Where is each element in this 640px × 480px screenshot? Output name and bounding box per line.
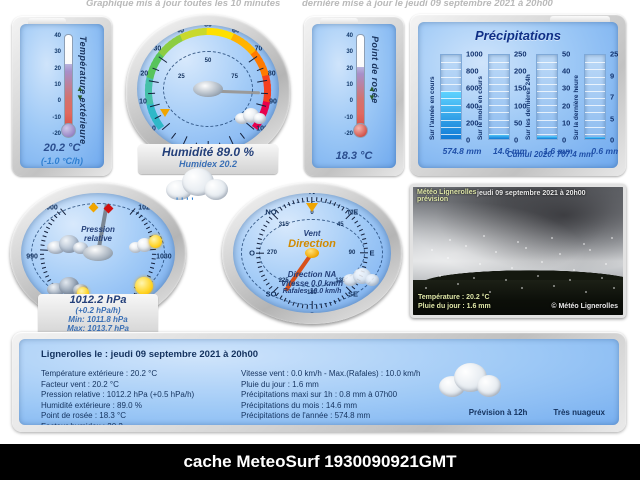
water-drop (537, 275, 539, 277)
webcam-temperature: Température : 20.2 °C (418, 294, 490, 301)
precipitation-scale: 259750 (608, 50, 618, 144)
barometer-readout: 1012.2 hPa (+0.2 hPa/h) Min: 1011.8 hPa … (35, 294, 161, 333)
needle-hub (305, 248, 319, 258)
wind-title: Vent Direction (237, 229, 387, 250)
tick-mark (261, 93, 268, 94)
water-drop (479, 263, 481, 265)
tick-mark (321, 304, 323, 308)
trend-arrows-icon: ▲▼ (76, 84, 84, 102)
tick-mark (292, 302, 294, 306)
dew-point-value: 18.3 °C (312, 150, 396, 162)
water-drop (431, 249, 433, 251)
scale-label: 10 (346, 82, 353, 88)
bar-gradation (441, 91, 461, 92)
gauge-face: 0102030405060708090100255075 (137, 25, 279, 153)
bar-gradation (441, 112, 461, 113)
summary-line: Précipitations du mois : 14.6 mm (241, 401, 420, 412)
bar-gradation (585, 62, 605, 63)
water-drop (583, 243, 585, 245)
scale-number: 30 (154, 45, 162, 52)
outdoor-temperature-rate: (-1.0 °C/h) (20, 156, 104, 166)
scale-label: -10 (344, 115, 353, 121)
bar-gradation (441, 105, 461, 106)
scale-label: -20 (52, 131, 61, 137)
water-drop (439, 275, 441, 277)
bar-gradation (489, 62, 509, 63)
tick-mark (307, 197, 308, 201)
scale-number: 1020 (138, 204, 154, 211)
water-drop (521, 287, 523, 289)
water-drop (465, 245, 467, 247)
thermometer-tube (64, 34, 73, 126)
scale-number: 50 (204, 25, 212, 29)
scale-number: 100 (256, 125, 268, 132)
precipitation-column-label: Sur les dernières 24h (525, 54, 532, 140)
thermometer-tube (356, 34, 365, 126)
humidity-readout: Humidité 89.0 % Humidex 20.2 (138, 145, 278, 169)
footer-text: cache MeteoSurf 1930090921GMT (0, 452, 640, 472)
summary-line: Facteur humidex : 20.2 (41, 422, 194, 426)
bar-gradation (537, 69, 557, 70)
summary-line: Vitesse vent : 0.0 km/h - Max.(Rafales) … (241, 369, 420, 380)
scale-label: 30 (54, 49, 61, 55)
footer-brand: MeteoSurf (236, 452, 319, 471)
barometer-title-line1: Pression (53, 225, 143, 234)
water-drop (611, 237, 613, 239)
forecast-label: Prévision à 12h (469, 408, 528, 417)
tick-mark (171, 133, 176, 139)
pressure-min: Min: 1011.8 hPa (35, 315, 161, 324)
tick-mark (307, 305, 308, 309)
compass-point-ne: NE (348, 207, 358, 216)
forecast-cloud-icon (439, 363, 501, 397)
bar-gradation (537, 91, 557, 92)
scale-label: 5 (610, 114, 614, 123)
bar-gradation (585, 69, 605, 70)
bar-gradation (489, 77, 509, 78)
wind-readout: Direction NA Vitesse 0.0 km/h Rafales 10… (233, 270, 391, 295)
scale-label: 0 (350, 98, 353, 104)
tick-mark (311, 301, 312, 309)
bar-gradation (441, 84, 461, 85)
panel-inner: 403020100-10-20 Point de rosée ▲▼ 18.3 °… (312, 24, 396, 168)
scale-number: 90 (269, 99, 277, 106)
humidity-trend-marker (160, 109, 170, 117)
webcam-forecast-label: prévision (417, 196, 448, 203)
webcam-station-label: Météo Lignerolles (417, 189, 477, 196)
bar-gradation (585, 120, 605, 121)
bar-gradation (441, 120, 461, 121)
precipitation-column-label: Sur la dernière heure (573, 54, 580, 140)
water-drop (447, 257, 449, 259)
tick-mark (240, 133, 245, 139)
scale-number: 80 (268, 70, 276, 77)
water-drop (495, 251, 497, 253)
water-drop (505, 279, 507, 281)
needle-hub (83, 245, 113, 261)
cloud-icon (233, 107, 267, 125)
wind-label: Vent (303, 229, 320, 238)
bar-gradation (537, 77, 557, 78)
water-drop (525, 247, 527, 249)
precipitation-bar-fill (537, 136, 557, 139)
bar-gradation (489, 134, 509, 135)
webcam-date: jeudi 09 septembre 2021 à 20h00 (477, 190, 586, 197)
scale-label: 50 (514, 118, 522, 127)
scale-number: 1030 (156, 253, 172, 260)
tick-mark (292, 200, 294, 204)
bar-gradation (489, 98, 509, 99)
compass-degree-label: 315 (279, 222, 289, 228)
scale-number: 990 (26, 253, 38, 260)
precipitation-column-label: Sur l'année en cours (429, 54, 436, 140)
humidity-value: Humidité 89.0 % (138, 145, 278, 159)
bar-gradation (441, 127, 461, 128)
precipitation-bar-fill (585, 137, 605, 139)
scale-number: 0 (152, 125, 156, 132)
scale-label: 0 (466, 136, 470, 145)
water-drop (573, 269, 575, 271)
compass-degree-label: 270 (267, 250, 277, 256)
compass-point-s: S (309, 311, 314, 314)
bar-gradation (489, 91, 509, 92)
water-drop (601, 277, 603, 279)
scale-label: 30 (346, 49, 353, 55)
weather-dashboard: Graphique mis à jour toutes les 10 minut… (0, 0, 640, 480)
needle-hub (193, 81, 223, 97)
scale-label: 40 (346, 33, 353, 39)
scale-label: 20 (346, 66, 353, 72)
bar-gradation (441, 134, 461, 135)
precipitation-bar (536, 54, 558, 140)
summary-left-column: Température extérieure : 20.2 °CFacteur … (41, 369, 194, 425)
bar-gradation (441, 77, 461, 78)
panel-inner: Précipitations 10008006004002000Sur l'an… (418, 22, 618, 168)
bar-gradation (489, 69, 509, 70)
precipitation-panel: Précipitations 10008006004002000Sur l'an… (410, 14, 626, 176)
scale-number: 10 (139, 99, 147, 106)
scale-label: 7 (610, 93, 614, 102)
water-drop (517, 241, 519, 243)
trend-arrows-icon: ▲▼ (368, 84, 376, 102)
summary-line: Pression relative : 1012.2 hPa (+0.5 hPa… (41, 390, 194, 401)
scale-label: 40 (562, 67, 570, 76)
pressure-rate: (+0.2 hPa/h) (35, 306, 161, 315)
sun-icon (149, 235, 162, 248)
tick-mark (360, 252, 368, 253)
summary-line: Précipitations maxi sur 1h : 0.8 mm à 07… (241, 390, 420, 401)
tick-mark (302, 304, 304, 308)
bar-gradation (585, 127, 605, 128)
summary-line: Température extérieure : 20.2 °C (41, 369, 194, 380)
water-drop (489, 291, 491, 293)
wind-title-row: Vent (237, 229, 387, 238)
footer-code: 1930090921GMT (320, 452, 457, 471)
dew-point-panel: 403020100-10-20 Point de rosée ▲▼ 18.3 °… (304, 16, 404, 176)
bar-gradation (585, 134, 605, 135)
water-drop (613, 287, 615, 289)
tick-mark (297, 303, 299, 307)
water-drop (605, 263, 607, 265)
compass-point-no: NO (265, 207, 276, 216)
scale-label: 0 (514, 136, 518, 145)
water-drop (569, 279, 571, 281)
precipitation-bar-fill (489, 134, 509, 139)
precipitation-bar (488, 54, 510, 140)
bar-gradation (441, 69, 461, 70)
forecast-row: Prévision à 12h Très nuageux (469, 408, 605, 417)
thermometer-bulb (353, 123, 368, 138)
scale-label: 9 (610, 71, 614, 80)
scale-label: 50 (562, 50, 570, 59)
scale-number: 1000 (42, 204, 58, 211)
scale-label: 0 (58, 98, 61, 104)
bar-gradation (441, 98, 461, 99)
water-drop (483, 235, 485, 237)
bar-gradation (537, 120, 557, 121)
north-marker-icon (306, 203, 318, 212)
water-drop (559, 253, 561, 255)
scale-number: 60 (232, 28, 240, 35)
scale-label: 10 (562, 118, 570, 127)
summary-heading: Lignerolles le : jeudi 09 septembre 2021… (41, 349, 258, 360)
tick-mark (40, 254, 44, 255)
water-drop (551, 237, 553, 239)
wind-speed-value: Vitesse 0.0 km/h (233, 279, 391, 288)
precipitation-bar (440, 54, 462, 140)
summary-line: Point de rosée : 18.3 °C (41, 411, 194, 422)
bar-gradation (537, 62, 557, 63)
wind-direction-value: Direction NA (233, 270, 391, 279)
webcam-image[interactable]: Météo Lignerolles prévision jeudi 09 sep… (410, 184, 626, 318)
scale-label: 0 (610, 136, 614, 145)
water-drop (541, 261, 543, 263)
bar-gradation (537, 98, 557, 99)
scale-number: 20 (140, 70, 148, 77)
wind-compass-gauge: NNEESESSOONO04590135180225270315 Vent Di… (222, 182, 402, 324)
mercury-column (65, 64, 72, 125)
dew-point-scale: 403020100-10-20 (328, 32, 354, 134)
outdoor-temperature-value: 20.2 °C (20, 142, 104, 154)
scale-label: 10 (54, 82, 61, 88)
bar-gradation (441, 62, 461, 63)
bar-gradation (585, 112, 605, 113)
wind-gust-value: Rafales 10.0 km/h (233, 288, 391, 295)
bar-gradation (585, 98, 605, 99)
tick-mark (302, 198, 304, 202)
bar-gradation (489, 112, 509, 113)
bar-gradation (537, 134, 557, 135)
bar-gradation (585, 84, 605, 85)
bar-gradation (489, 120, 509, 121)
bar-gradation (537, 105, 557, 106)
scale-label: 20 (54, 66, 61, 72)
footer-prefix: cache (183, 452, 236, 471)
scale-label: -10 (52, 115, 61, 121)
tick-mark (256, 252, 264, 253)
compass-point-n: N (309, 193, 316, 196)
precipitation-title: Précipitations (418, 28, 618, 43)
water-drop (473, 277, 475, 279)
compass-degree-label: 90 (349, 250, 356, 256)
rain-drops-icon: '''' (176, 196, 197, 206)
precipitation-cumul: Cumul 2020: 707.4 mm (488, 150, 612, 159)
graph-update-text: Graphique mis à jour toutes les 10 minut… (86, 0, 280, 9)
webcam-rain: Pluie du jour : 1.6 mm (418, 303, 491, 310)
water-drop (449, 239, 451, 241)
tick-mark (297, 199, 299, 203)
bar-gradation (537, 112, 557, 113)
thermometer-bulb (61, 123, 76, 138)
footer-bar: cache MeteoSurf 1930090921GMT (0, 444, 640, 480)
scale-label: 25 (610, 50, 618, 59)
precipitation-bar (584, 54, 606, 140)
barometer-title: Pression relative (53, 225, 143, 243)
pressure-value: 1012.2 hPa (35, 294, 161, 306)
scale-label: 40 (54, 33, 61, 39)
summary-line: Pluie du jour : 1.6 mm (241, 380, 420, 391)
scale-number: 40 (176, 28, 184, 35)
scale-label: 0 (562, 136, 566, 145)
water-drop (511, 267, 513, 269)
summary-line: Humidité extérieure : 89.0 % (41, 401, 194, 412)
bar-gradation (585, 77, 605, 78)
water-drop (553, 285, 555, 287)
summary-line: Facteur vent : 20.2 °C (41, 380, 194, 391)
bar-gradation (585, 105, 605, 106)
bar-gradation (489, 105, 509, 106)
compass-degree-label: 45 (337, 222, 344, 228)
bar-gradation (489, 84, 509, 85)
panel-inner: 403020100-10-20 Température extérieure ▲… (20, 24, 104, 168)
barometer-gauge: 98099010001010102010301040 Pression (10, 182, 186, 324)
summary-right-column: Vitesse vent : 0.0 km/h - Max.(Rafales) … (241, 369, 420, 422)
water-drop (457, 283, 459, 285)
summary-panel: Lignerolles le : jeudi 09 septembre 2021… (12, 332, 626, 432)
forecast-value: Très nuageux (553, 408, 605, 417)
tick-mark (148, 93, 155, 94)
precipitation-column-label: Sur le mois en cours (477, 54, 484, 140)
outdoor-temperature-panel: 403020100-10-20 Température extérieure ▲… (12, 16, 112, 176)
mercury-column (357, 67, 364, 125)
bar-gradation (537, 84, 557, 85)
humidity-gauge: 0102030405060708090100255075 Humidité 89… (126, 14, 290, 164)
scale-label: 20 (562, 101, 570, 110)
summary-line: Précipitations de l'année : 574.8 mm (241, 411, 420, 422)
panel-inner: Lignerolles le : jeudi 09 septembre 2021… (19, 339, 619, 425)
bar-gradation (489, 127, 509, 128)
water-drop (589, 249, 591, 251)
bar-gradation (537, 127, 557, 128)
sun-icon (135, 277, 153, 295)
barometer-title-line2: relative (53, 234, 143, 243)
gauge-face: NNEESESSOONO04590135180225270315 Vent Di… (233, 193, 391, 313)
webcam-copyright: © Météo Lignerolles (551, 303, 618, 310)
scale-number: 70 (255, 45, 263, 52)
tick-mark (316, 305, 317, 309)
scale-label: 30 (562, 84, 570, 93)
water-drop (585, 291, 587, 293)
bar-gradation (585, 91, 605, 92)
water-drop (425, 287, 427, 289)
temperature-scale: 403020100-10-20 (36, 32, 62, 134)
last-update-text: dernière mise à jour le jeudi 09 septemb… (302, 0, 553, 9)
scale-label: -20 (344, 131, 353, 137)
